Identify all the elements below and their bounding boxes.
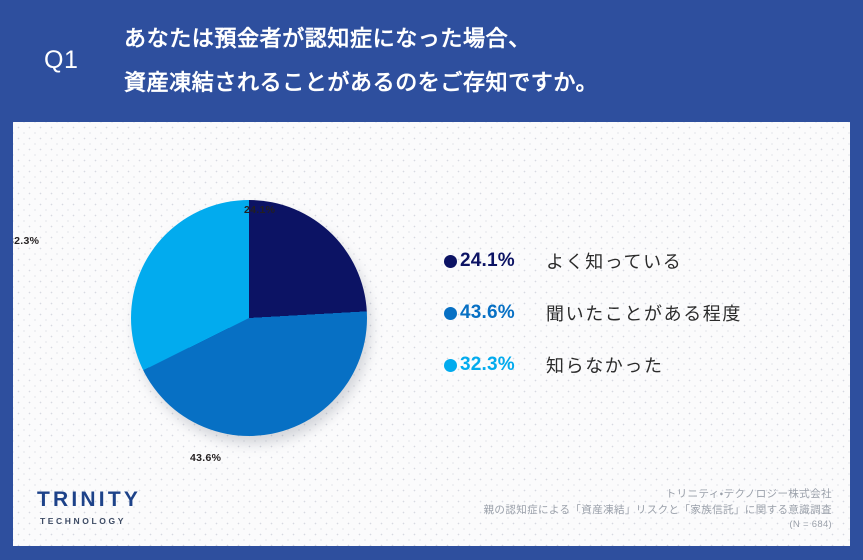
question-title: あなたは預金者が認知症になった場合、 資産凍結されることがあるのをご存知ですか。: [124, 17, 598, 105]
legend-item-0[interactable]: 24.1% よく知っている: [444, 235, 834, 287]
brand-logo-name: TRINITY: [37, 488, 247, 511]
legend-label: 聞いたことがある程度: [546, 300, 742, 326]
pie-chart: [131, 200, 367, 436]
brand-logo-tagline: TECHNOLOGY: [40, 516, 247, 526]
legend-label: 知らなかった: [546, 352, 664, 378]
content-card: 24.1% 43.6% 32.3% 24.1% よく知っている 43.6% 聞い…: [13, 122, 850, 546]
question-title-line-2: 資産凍結されることがあるのをご存知ですか。: [124, 61, 598, 105]
pie-disc: [131, 200, 367, 436]
pie-data-label-navy: 24.1%: [244, 204, 275, 216]
header-band: Q1 あなたは預金者が認知症になった場合、 資産凍結されることがあるのをご存知で…: [0, 0, 863, 122]
brand-logo: TRINITY TECHNOLOGY: [37, 488, 247, 526]
legend-bullet-icon: [444, 359, 457, 372]
source-company: トリニティ・テクノロジー株式会社: [484, 486, 832, 502]
legend-percent: 43.6%: [460, 302, 536, 324]
legend-bullet-icon: [444, 255, 457, 268]
pie-data-label-blue: 43.6%: [190, 452, 221, 464]
legend-percent: 32.3%: [460, 354, 536, 376]
source-sample-size: (N = 684): [484, 518, 832, 533]
legend-percent: 24.1%: [460, 250, 536, 272]
pie-data-label-light: 32.3%: [13, 235, 39, 247]
chart-legend: 24.1% よく知っている 43.6% 聞いたことがある程度 32.3% 知らな…: [444, 235, 834, 391]
legend-label: よく知っている: [546, 248, 682, 274]
source-credit: トリニティ・テクノロジー株式会社 親の認知症による「資産凍結」リスクと「家族信託…: [484, 486, 832, 533]
legend-bullet-icon: [444, 307, 457, 320]
source-survey-name: 親の認知症による「資産凍結」リスクと「家族信託」に関する意識調査: [484, 502, 832, 518]
legend-item-2[interactable]: 32.3% 知らなかった: [444, 339, 834, 391]
question-title-line-1: あなたは預金者が認知症になった場合、: [124, 17, 598, 61]
legend-item-1[interactable]: 43.6% 聞いたことがある程度: [444, 287, 834, 339]
question-number: Q1: [44, 48, 78, 73]
slide-root: Q1 あなたは預金者が認知症になった場合、 資産凍結されることがあるのをご存知で…: [0, 0, 863, 560]
